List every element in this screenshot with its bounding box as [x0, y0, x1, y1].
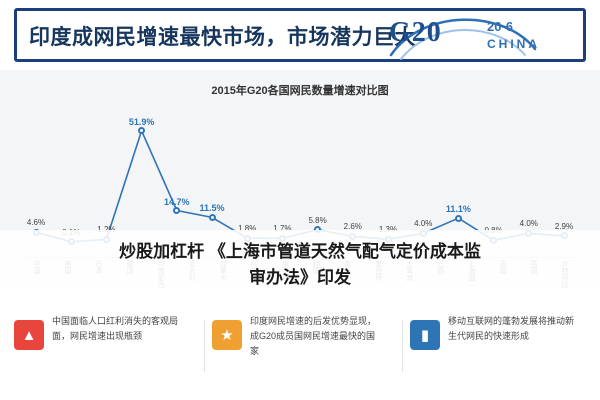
data-point-label: 14.7% — [164, 197, 190, 207]
g20-logo-text: G20 — [389, 17, 442, 49]
data-point — [209, 214, 216, 221]
card-icon: ▲ — [14, 320, 44, 350]
g20-logo-year: 20·6 — [487, 19, 513, 34]
header-banner: 印度成网民增速最快市场，市场潜力巨大 G20 20·6 CHINA — [0, 0, 600, 70]
card-icon: ▮ — [410, 320, 440, 350]
data-point-label: 4.0% — [414, 219, 432, 228]
headline-line-2: 审办法》印发 — [249, 265, 351, 288]
card-divider — [204, 320, 205, 372]
data-point-label: 4.0% — [520, 219, 538, 228]
data-point-label: 11.5% — [199, 203, 224, 213]
card-text: 移动互联网的蓬勃发展将推动新生代网民的快速形成 — [448, 314, 580, 344]
chart-panel: 2015年G20各国网民数量增速对比图 4.6%0.1%1.2%51.9%14.… — [0, 70, 600, 288]
g20-logo-sub: CHINA — [487, 37, 540, 51]
headline-line-1: 炒股加杠杆 《上海市管道天然气配气定价成本监 — [119, 239, 481, 265]
summary-card: ★印度网民增速的后发优势显现，成G20成员国网民增速最快的国家 — [212, 314, 392, 380]
banner-frame: 印度成网民增速最快市场，市场潜力巨大 G20 20·6 CHINA — [14, 8, 586, 62]
card-divider — [402, 320, 403, 372]
summary-card: ▮移动互联网的蓬勃发展将推动新生代网民的快速形成 — [410, 314, 590, 380]
data-point-label: 4.6% — [27, 218, 45, 227]
chart-title: 2015年G20各国网民数量增速对比图 — [0, 82, 600, 98]
data-point — [455, 215, 462, 222]
g20-logo: G20 20·6 CHINA — [383, 15, 573, 63]
data-point-label: 51.9% — [129, 117, 155, 127]
summary-cards: ▲中国面临人口红利消失的客观局面，网民增速出现瓶颈★印度网民增速的后发优势显现，… — [0, 300, 600, 400]
card-icon: ★ — [212, 320, 242, 350]
card-text: 中国面临人口红利消失的客观局面，网民增速出现瓶颈 — [52, 314, 184, 344]
banner-title: 印度成网民增速最快市场，市场潜力巨大 — [29, 21, 416, 51]
data-point-label: 5.8% — [308, 216, 326, 225]
summary-card: ▲中国面临人口红利消失的客观局面，网民增速出现瓶颈 — [14, 314, 194, 380]
data-point-label: 11.1% — [446, 204, 471, 214]
headline-overlay: 炒股加杠杆 《上海市管道天然气配气定价成本监 审办法》印发 — [0, 230, 600, 288]
screenshot-root: 印度成网民增速最快市场，市场潜力巨大 G20 20·6 CHINA 2015年G… — [0, 0, 600, 400]
card-text: 印度网民增速的后发优势显现，成G20成员国网民增速最快的国家 — [250, 314, 382, 359]
